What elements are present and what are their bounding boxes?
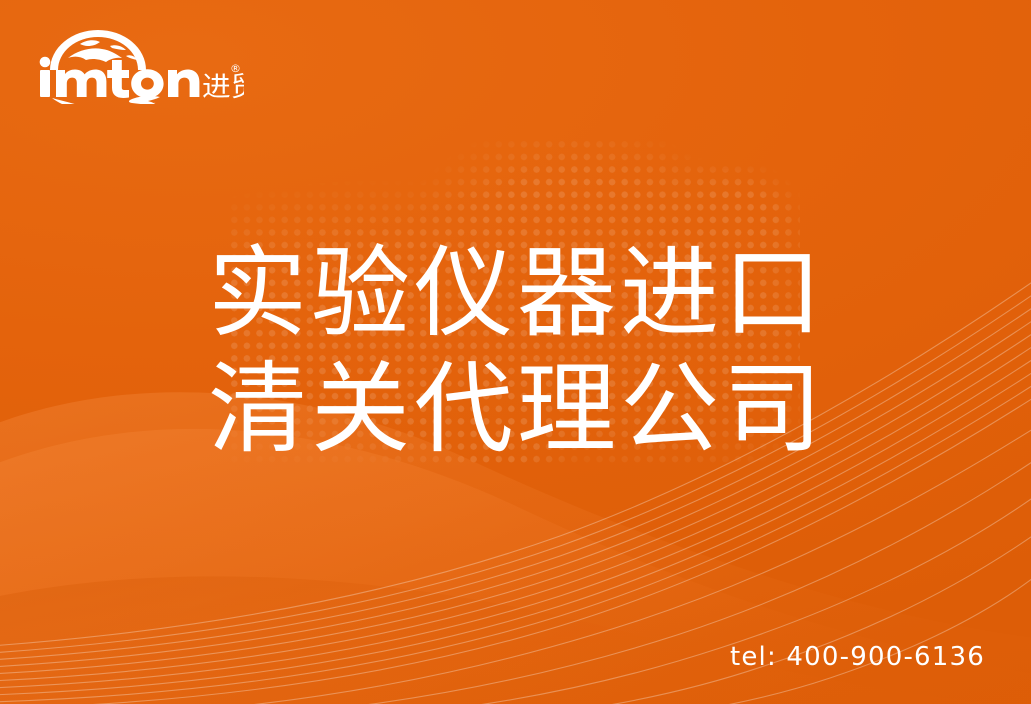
headline-line-1: 实验仪器进口 [208, 236, 868, 352]
promo-banner: 进贸通 ® 实验仪器进口 清关代理公司 tel: 400-900-6136 [0, 0, 1031, 704]
page-title: 实验仪器进口 清关代理公司 [208, 236, 868, 468]
logo-chinese-name: 进贸通 [202, 72, 244, 103]
brand-logo[interactable]: 进贸通 ® [34, 26, 244, 104]
contact-phone[interactable]: tel: 400-900-6136 [730, 642, 985, 672]
swoosh-icon [52, 96, 160, 104]
registered-mark-icon: ® [230, 62, 241, 75]
headline-line-2: 清关代理公司 [208, 352, 868, 468]
